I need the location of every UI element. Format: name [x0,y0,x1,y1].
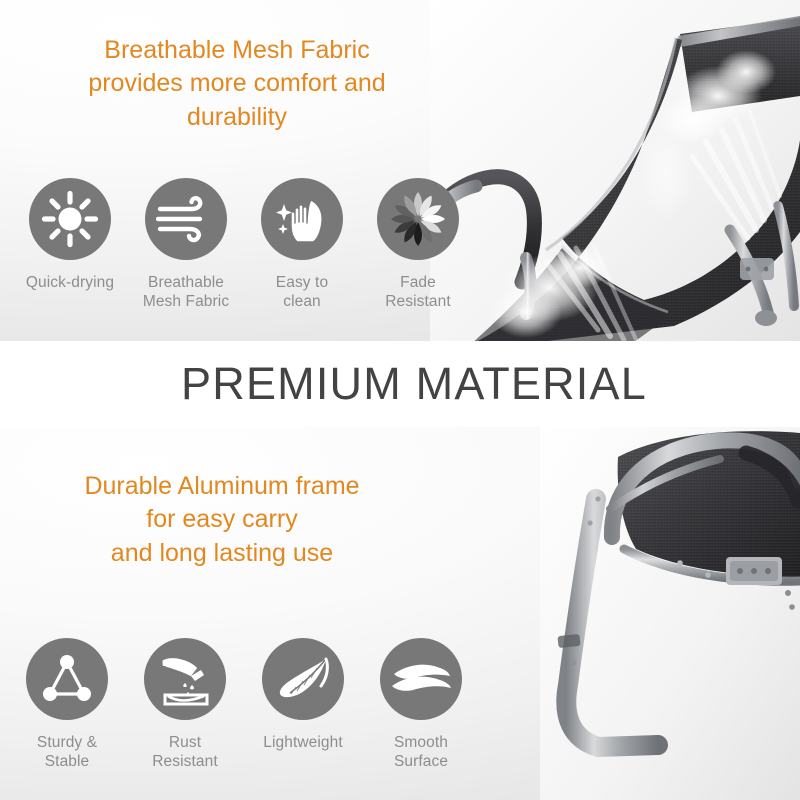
feature-rust-resistant[interactable]: Rust Resistant [126,638,244,771]
aluminum-frame-photo [540,427,800,800]
smooth-waves-icon [380,638,462,720]
top-feature-row: Quick-drying Breathable Mesh Fabric [12,178,476,311]
feature-label: Rust Resistant [152,733,218,771]
mesh-lounger-photo [430,0,800,341]
top-headline-line-2: provides more comfort and [22,67,452,100]
feature-label: Easy to clean [276,273,328,311]
sun-icon [29,178,111,260]
feather-icon [262,638,344,720]
feature-label: Quick-drying [26,273,114,292]
bottom-headline: Durable Aluminum frame for easy carry an… [22,470,422,570]
feature-label: Fade Resistant [385,273,451,311]
bottom-section: Durable Aluminum frame for easy carry an… [0,427,800,800]
feature-lightweight[interactable]: Lightweight [244,638,362,771]
top-headline: Breathable Mesh Fabric provides more com… [22,34,452,134]
top-headline-line-3: durability [22,101,452,134]
feature-label: Smooth Surface [394,733,448,771]
feature-label: Breathable Mesh Fabric [143,273,229,311]
feature-label: Sturdy & Stable [37,733,97,771]
feature-label: Lightweight [263,733,343,752]
top-headline-line-1: Breathable Mesh Fabric [22,34,452,67]
feature-smooth-surface[interactable]: Smooth Surface [362,638,480,771]
product-feature-graphic: Breathable Mesh Fabric provides more com… [0,0,800,800]
premium-material-band: PREMIUM MATERIAL [0,341,800,427]
fade-petals-icon [377,178,459,260]
flask-drops-icon [144,638,226,720]
bottom-headline-line-1: Durable Aluminum frame [22,470,422,503]
band-title: PREMIUM MATERIAL [181,358,647,410]
feature-sturdy-stable[interactable]: Sturdy & Stable [8,638,126,771]
feature-easy-to-clean[interactable]: Easy to clean [244,178,360,311]
feature-quick-drying[interactable]: Quick-drying [12,178,128,311]
top-section: Breathable Mesh Fabric provides more com… [0,0,800,341]
hand-sparkle-icon [261,178,343,260]
triangle-nodes-icon [26,638,108,720]
bottom-headline-line-3: and long lasting use [22,537,422,570]
feature-fade-resistant[interactable]: Fade Resistant [360,178,476,311]
feature-breathable-mesh-fabric[interactable]: Breathable Mesh Fabric [128,178,244,311]
wind-icon [145,178,227,260]
bottom-headline-line-2: for easy carry [22,503,422,536]
bottom-feature-row: Sturdy & Stable [8,638,480,771]
